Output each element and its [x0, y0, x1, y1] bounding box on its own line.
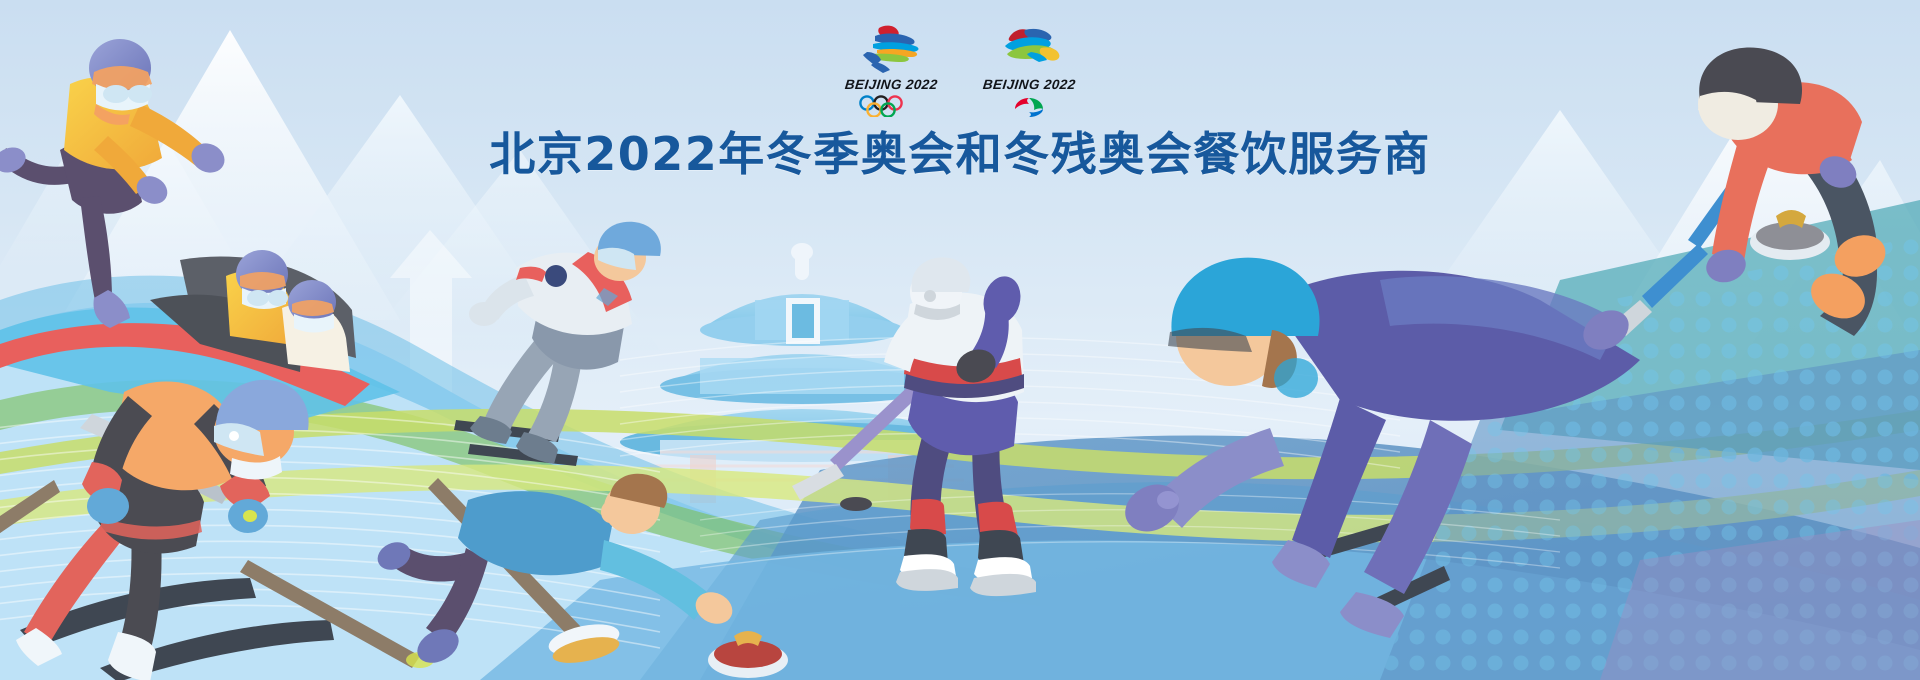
alpine-skier: [0, 380, 434, 680]
emblem-row: BEIJING 2022 BEIJING 2022: [0, 22, 1920, 117]
winter-dream-emblem-icon: [845, 22, 937, 74]
agitos-icon: [993, 95, 1065, 117]
olympic-emblem: BEIJING 2022: [841, 22, 941, 117]
banner-title: 北京2022年冬季奥会和冬残奥会餐饮服务商: [0, 118, 1920, 184]
speed-skater-right: [1117, 258, 1640, 638]
paralympic-wordmark: BEIJING 2022: [982, 77, 1076, 92]
olympic-rings-icon: [855, 95, 927, 117]
paralympic-emblem: BEIJING 2022: [979, 22, 1079, 117]
curling-sweeper: [373, 474, 788, 678]
ice-hockey-player: [792, 257, 1036, 596]
olympic-banner: BEIJING 2022 BEIJING 2022: [0, 0, 1920, 680]
speed-skater-left: [454, 222, 661, 466]
flying-high-emblem-icon: [983, 22, 1075, 74]
olympic-wordmark: BEIJING 2022: [844, 77, 938, 92]
bobsleigh-rider-three: [282, 280, 350, 372]
